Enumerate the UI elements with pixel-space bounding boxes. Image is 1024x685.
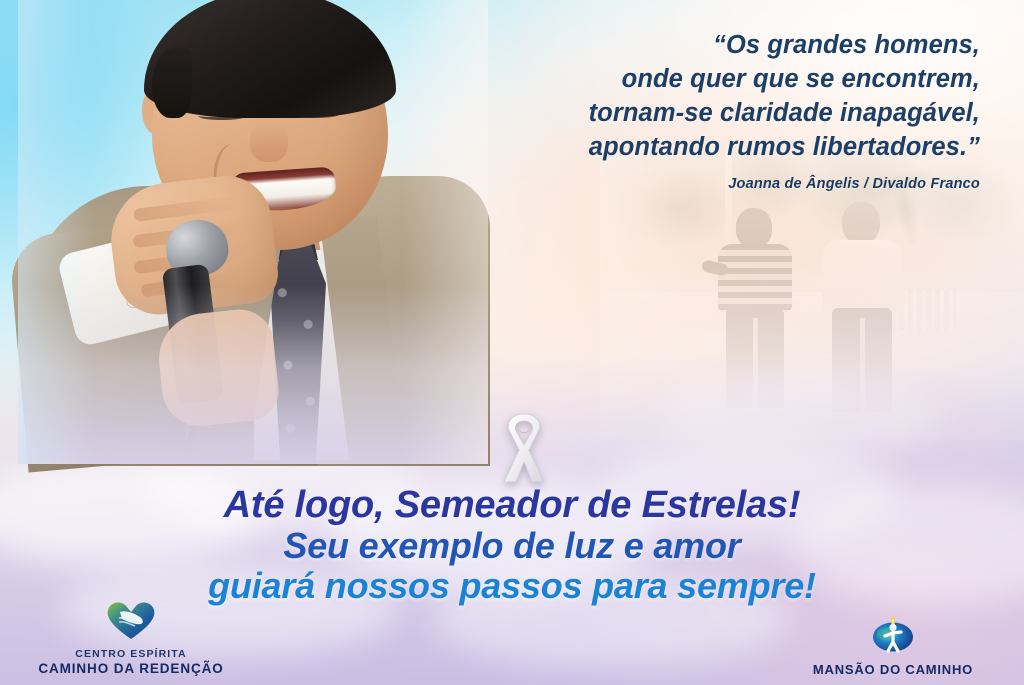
- logo-right-line-1: MANSÃO DO CAMINHO: [768, 662, 1018, 677]
- headline-block: Até logo, Semeador de Estrelas! Seu exem…: [0, 484, 1024, 606]
- logo-left-line-1: CENTRO ESPÍRITA: [6, 648, 256, 661]
- quote-attribution: Joanna de Ângelis / Divaldo Franco: [420, 176, 980, 192]
- logo-centro-espirita[interactable]: CENTRO ESPÍRITA CAMINHO DA REDENÇÃO: [6, 599, 256, 677]
- memorial-poster: “Os grandes homens, onde quer que se enc…: [0, 0, 1024, 685]
- quote-line-4: apontando rumos libertadores.”: [420, 130, 980, 164]
- quote-block: “Os grandes homens, onde quer que se enc…: [420, 28, 980, 192]
- logo-left-line-2: CAMINHO DA REDENÇÃO: [6, 661, 256, 677]
- quote-line-2: onde quer que se encontrem,: [420, 62, 980, 96]
- headline-line-2: Seu exemplo de luz e amor: [0, 526, 1024, 566]
- headline-line-1: Até logo, Semeador de Estrelas!: [0, 484, 1024, 526]
- heart-hands-icon: [6, 599, 256, 646]
- white-ribbon-icon: [482, 408, 566, 484]
- globe-figure-flame-icon: [768, 611, 1018, 660]
- portrait-divaldo-franco: [18, 0, 488, 464]
- quote-line-1: “Os grandes homens,: [420, 28, 980, 62]
- quote-line-3: tornam-se claridade inapagável,: [420, 96, 980, 130]
- logo-mansao-do-caminho[interactable]: MANSÃO DO CAMINHO: [768, 611, 1018, 677]
